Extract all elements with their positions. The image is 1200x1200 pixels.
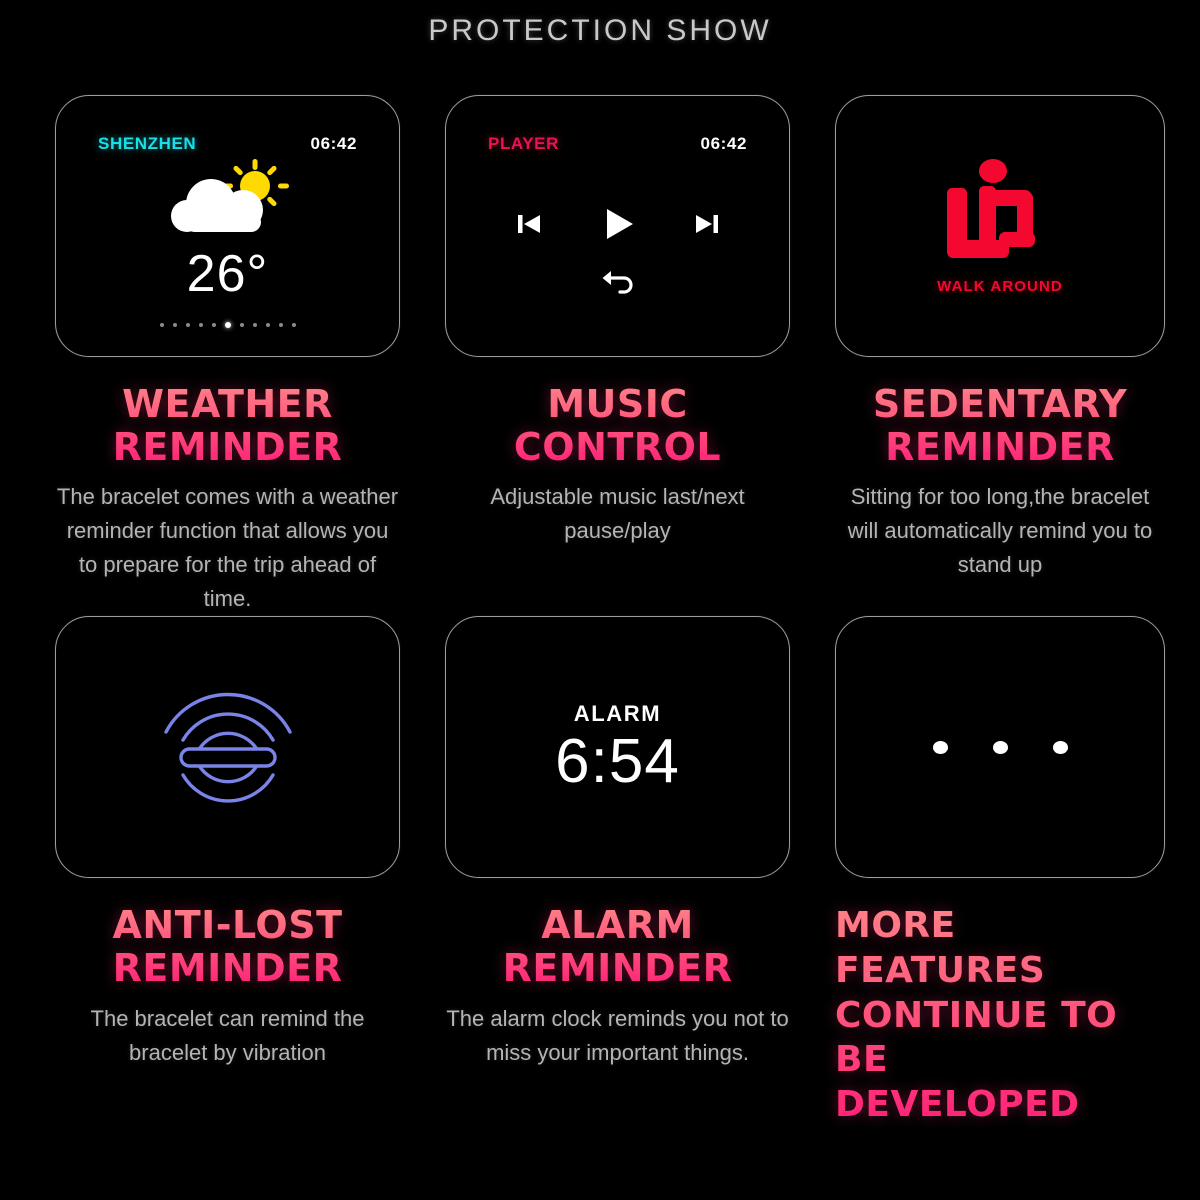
feature-heading-alarm: ALARM REMINDER [445,904,790,989]
feature-heading-more: MORE FEATURES CONTINUE TO BE DEVELOPED [835,904,1165,1127]
three-dots-icon [836,617,1164,877]
feature-card-alarm: ALARM 6:54 ALARM REMINDER The alarm cloc… [445,616,790,1127]
player-label: PLAYER [488,134,559,154]
heading-line-1: SEDENTARY [835,383,1165,426]
page-dot [199,323,203,327]
page-dot [279,323,283,327]
feature-description-music: Adjustable music last/next pause/play [445,480,790,548]
heading-line-1: MORE FEATURES [835,904,1165,993]
feature-description-alarm: The alarm clock reminds you not to miss … [445,1002,790,1070]
feature-description-sedentary: Sitting for too long,the bracelet will a… [835,480,1165,582]
feature-card-more: MORE FEATURES CONTINUE TO BE DEVELOPED [835,616,1165,1127]
feature-heading-weather: WEATHER REMINDER [55,383,400,468]
page-dot [173,323,177,327]
weather-city-label: SHENZHEN [98,134,196,154]
page-dot [253,323,257,327]
sedentary-content: WALK AROUND [836,96,1164,356]
seated-person-icon [943,158,1058,268]
feature-description-anti-lost: The bracelet can remind the bracelet by … [55,1002,400,1070]
heading-line-3: DEVELOPED [835,1083,1165,1128]
watch-screen-weather[interactable]: SHENZHEN 06:42 [55,95,400,357]
player-time-label: 06:42 [701,134,747,154]
feature-card-music: PLAYER 06:42 [445,95,790,616]
page-dot [186,323,190,327]
heading-line-2: CONTROL [445,426,790,469]
heading-line-1: MUSIC [445,383,790,426]
play-icon[interactable] [598,204,638,249]
watch-screen-sedentary[interactable]: WALK AROUND [835,95,1165,357]
alarm-label: ALARM [574,701,661,727]
weather-time-label: 06:42 [311,134,357,154]
previous-track-icon[interactable] [514,209,544,244]
back-arrow-icon[interactable] [600,268,636,303]
feature-heading-music: MUSIC CONTROL [445,383,790,468]
player-back-row [446,268,789,303]
feature-heading-anti-lost: ANTI-LOST REMINDER [55,904,400,989]
page-dot [212,323,216,327]
heading-line-2: REMINDER [835,426,1165,469]
vibration-waves-icon [158,682,298,812]
feature-card-anti-lost: ANTI-LOST REMINDER The bracelet can remi… [55,616,400,1127]
watch-screen-more[interactable] [835,616,1165,878]
weather-page-dots[interactable] [56,322,399,328]
weather-temperature: 26° [56,244,399,304]
more-dot [993,741,1008,754]
page-dot-active [225,322,231,328]
feature-grid: SHENZHEN 06:42 [55,95,1165,1128]
watch-screen-vibration[interactable] [55,616,400,878]
vibration-content [56,617,399,877]
alarm-time: 6:54 [555,731,680,793]
heading-line-2: CONTINUE TO BE [835,994,1165,1083]
page-dot [292,323,296,327]
page-title: PROTECTION SHOW [0,14,1200,48]
feature-description-weather: The bracelet comes with a weather remind… [55,480,400,616]
sun-behind-cloud-icon [56,158,399,250]
player-controls [446,204,789,249]
page-dot [266,323,270,327]
feature-card-sedentary: WALK AROUND SEDENTARY REMINDER Sitting f… [835,95,1165,616]
feature-heading-sedentary: SEDENTARY REMINDER [835,383,1165,468]
more-dot [1053,741,1068,754]
watch-screen-player[interactable]: PLAYER 06:42 [445,95,790,357]
heading-line-2: REMINDER [55,426,400,469]
heading-line-2: REMINDER [445,947,790,990]
player-status-row: PLAYER 06:42 [446,134,789,154]
next-track-icon[interactable] [692,209,722,244]
alarm-content: ALARM 6:54 [446,617,789,877]
heading-line-1: WEATHER [55,383,400,426]
page-dot [160,323,164,327]
more-dot [933,741,948,754]
feature-card-weather: SHENZHEN 06:42 [55,95,400,616]
page-dot [240,323,244,327]
heading-line-1: ANTI-LOST [55,904,400,947]
heading-line-1: ALARM [445,904,790,947]
weather-status-row: SHENZHEN 06:42 [56,134,399,154]
heading-line-2: REMINDER [55,947,400,990]
watch-screen-alarm[interactable]: ALARM 6:54 [445,616,790,878]
walk-around-label: WALK AROUND [937,278,1063,295]
